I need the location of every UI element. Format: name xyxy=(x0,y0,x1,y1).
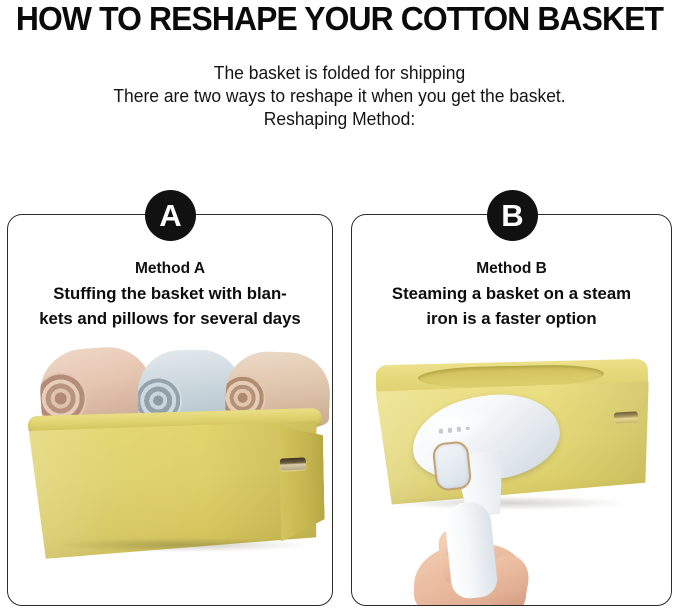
badge-method-b: B xyxy=(487,190,538,241)
method-card-a: Method A Stuffing the basket with blan- … xyxy=(7,214,333,606)
basket-a-handle-slot xyxy=(280,457,307,470)
steamer-power-button[interactable] xyxy=(432,440,473,492)
badge-method-a: A xyxy=(145,190,196,241)
method-b-heading: Method B xyxy=(352,259,671,279)
basket-b-handle-slot xyxy=(614,411,639,423)
method-a-description-line-2: kets and pillows for several days xyxy=(10,306,329,331)
indicator-dot xyxy=(466,427,470,430)
method-a-photo xyxy=(8,340,332,605)
indicator-dot xyxy=(457,427,462,432)
indicator-dot xyxy=(439,428,444,433)
basket-a-scene xyxy=(20,340,330,605)
basket-b-scene xyxy=(366,348,658,603)
method-a-description: Stuffing the basket with blan- kets and … xyxy=(10,281,329,331)
basket-a-side-panel xyxy=(279,426,326,547)
method-card-b: Method B Steaming a basket on a steam ir… xyxy=(351,214,672,606)
method-a-heading: Method A xyxy=(8,259,332,279)
method-b-description: Steaming a basket on a steam iron is a f… xyxy=(354,281,668,331)
method-b-description-line-1: Steaming a basket on a steam xyxy=(354,281,668,306)
method-b-description-line-2: iron is a faster option xyxy=(354,306,668,331)
yellow-basket-a xyxy=(28,412,322,562)
method-b-photo xyxy=(352,340,671,605)
basket-a-ground-shadow xyxy=(58,538,308,552)
indicator-dot xyxy=(448,428,453,433)
method-a-description-line-1: Stuffing the basket with blan- xyxy=(10,281,329,306)
garment-steamer xyxy=(412,390,582,605)
method-cards-container: Method A Stuffing the basket with blan- … xyxy=(0,0,679,611)
